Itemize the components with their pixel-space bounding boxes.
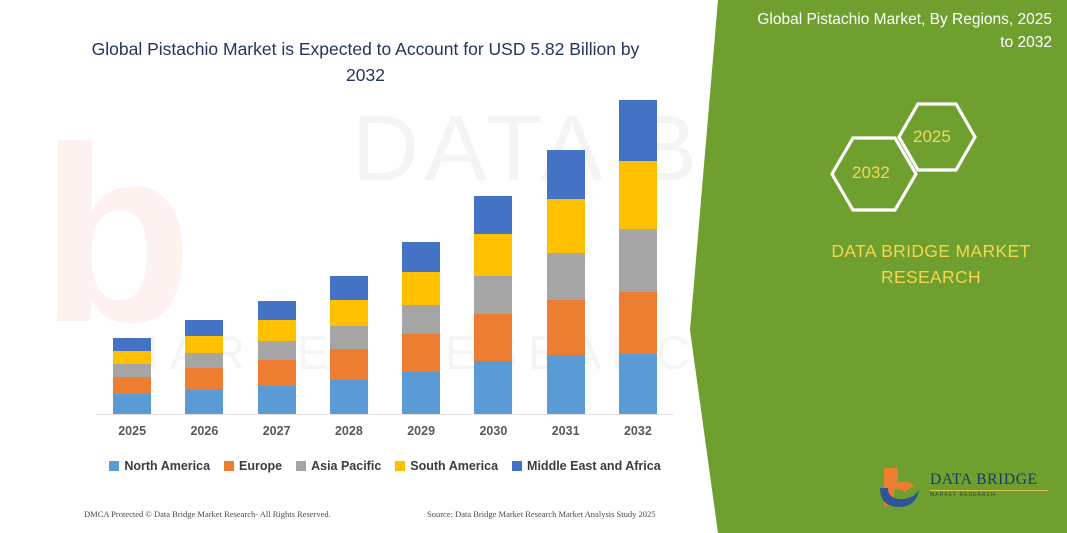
hexagon-group: 2025 2032 (818, 96, 993, 212)
logo-wordmark: DATA BRIDGE (930, 471, 1038, 489)
logo-tagline: MARKET RESEARCH (930, 492, 996, 498)
hexagon-shapes (818, 96, 993, 212)
hexagon-2025-label: 2025 (913, 127, 951, 147)
hexagon-2032-label: 2032 (852, 163, 890, 183)
panel-brand: DATA BRIDGE MARKET RESEARCH (806, 238, 1056, 290)
logo-mark-icon (878, 466, 924, 510)
panel-heading: Global Pistachio Market, By Regions, 202… (742, 8, 1052, 54)
logo-divider (930, 490, 1048, 491)
panel-brand-line1: DATA BRIDGE MARKET (806, 238, 1056, 264)
data-bridge-logo: DATA BRIDGE MARKET RESEARCH (878, 466, 1058, 512)
infographic-canvas: b DATA BRIDGE MARKET RESEARCH Global Pis… (0, 0, 1067, 533)
panel-brand-line2: RESEARCH (806, 264, 1056, 290)
